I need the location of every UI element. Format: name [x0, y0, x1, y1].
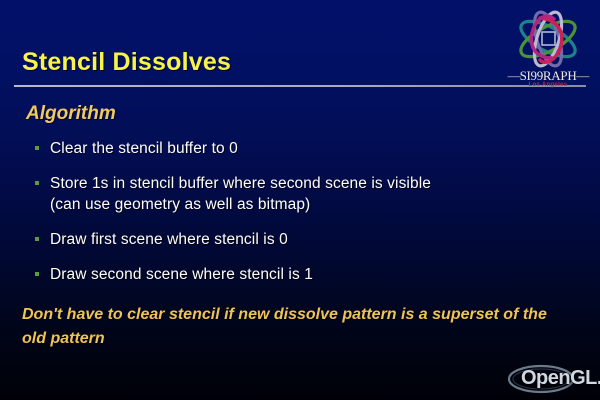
- page-title: Stencil Dissolves: [22, 48, 231, 77]
- list-item: Draw first scene where stencil is 0: [30, 229, 575, 250]
- list-item-text: Draw second scene where stencil is 1: [50, 264, 313, 285]
- opengl-logo: OpenGL.: [507, 362, 600, 398]
- section-heading: Algorithm: [26, 103, 116, 125]
- siggraph-logo: —SI99RAPH— Los Angeles: [500, 8, 596, 96]
- bullet-square-icon: [30, 138, 50, 150]
- list-item: Draw second scene where stencil is 1: [30, 264, 575, 285]
- list-item: Clear the stencil buffer to 0: [30, 138, 575, 159]
- bullet-square-icon: [30, 229, 50, 241]
- list-item-text: Store 1s in stencil buffer where second …: [50, 173, 431, 215]
- wordmark-dash-left: —: [508, 68, 520, 83]
- bullet-list: Clear the stencil buffer to 0 Store 1s i…: [30, 138, 575, 299]
- opengl-wordmark: OpenGL.: [521, 367, 600, 390]
- list-item-text: Draw first scene where stencil is 0: [50, 229, 288, 250]
- siggraph-rings-icon: [500, 8, 596, 70]
- closing-note: Don't have to clear stencil if new disso…: [22, 303, 562, 351]
- bullet-square-icon: [30, 173, 50, 185]
- wordmark-text: SI99RAPH: [520, 68, 577, 83]
- bullet-square-icon: [30, 264, 50, 276]
- slide-canvas: Stencil Dissolves Algorithm Clear the st…: [0, 0, 600, 400]
- list-item: Store 1s in stencil buffer where second …: [30, 173, 575, 215]
- list-item-text: Clear the stencil buffer to 0: [50, 138, 238, 159]
- siggraph-city-label: Los Angeles: [500, 82, 596, 88]
- wordmark-dash-right: —: [576, 68, 588, 83]
- list-item-continuation: (can use geometry as well as bitmap): [50, 194, 431, 215]
